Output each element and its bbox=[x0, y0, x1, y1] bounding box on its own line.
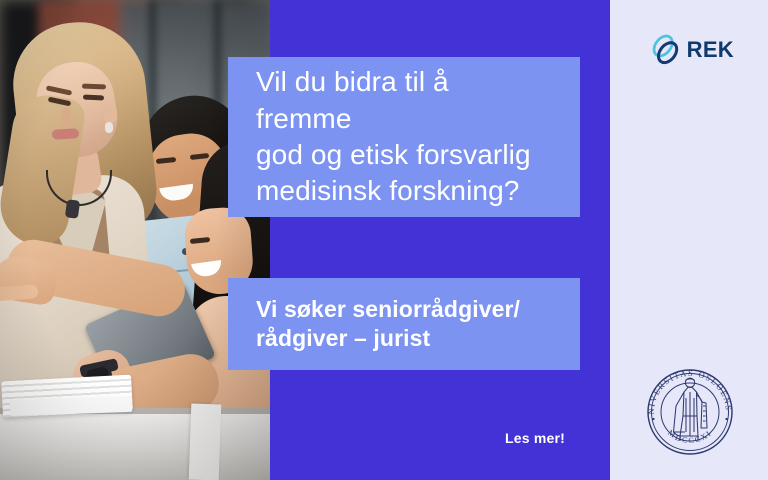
woman1-eye-right bbox=[83, 94, 104, 100]
recruitment-banner: Vil du bidra til å fremme god og etisk f… bbox=[0, 0, 768, 480]
role-text: Vi søker seniorrådgiver/ rådgiver – juri… bbox=[256, 295, 520, 353]
woman1-pendant bbox=[65, 199, 80, 219]
headline-text: Vil du bidra til å fremme god og etisk f… bbox=[256, 64, 552, 210]
headline-box: Vil du bidra til å fremme god og etisk f… bbox=[228, 57, 580, 217]
rek-logo[interactable]: REK bbox=[648, 28, 734, 72]
read-more-link[interactable]: Les mer! bbox=[505, 430, 565, 446]
uio-university-seal-icon: UNIVERSITAS OSLOENSIS MDCCCXI bbox=[640, 362, 740, 462]
woman1-nose bbox=[61, 108, 72, 127]
woman1-lips bbox=[52, 128, 79, 139]
woman1-brow-right bbox=[82, 84, 106, 90]
role-box: Vi søker seniorrådgiver/ rådgiver – juri… bbox=[228, 278, 580, 370]
woman1-earring bbox=[105, 122, 113, 133]
woman1-ear bbox=[104, 105, 117, 123]
desk-surface bbox=[0, 412, 270, 480]
rek-wordmark: REK bbox=[687, 37, 734, 63]
book-upright bbox=[189, 403, 222, 480]
rek-interlocking-rings-icon bbox=[648, 30, 684, 70]
